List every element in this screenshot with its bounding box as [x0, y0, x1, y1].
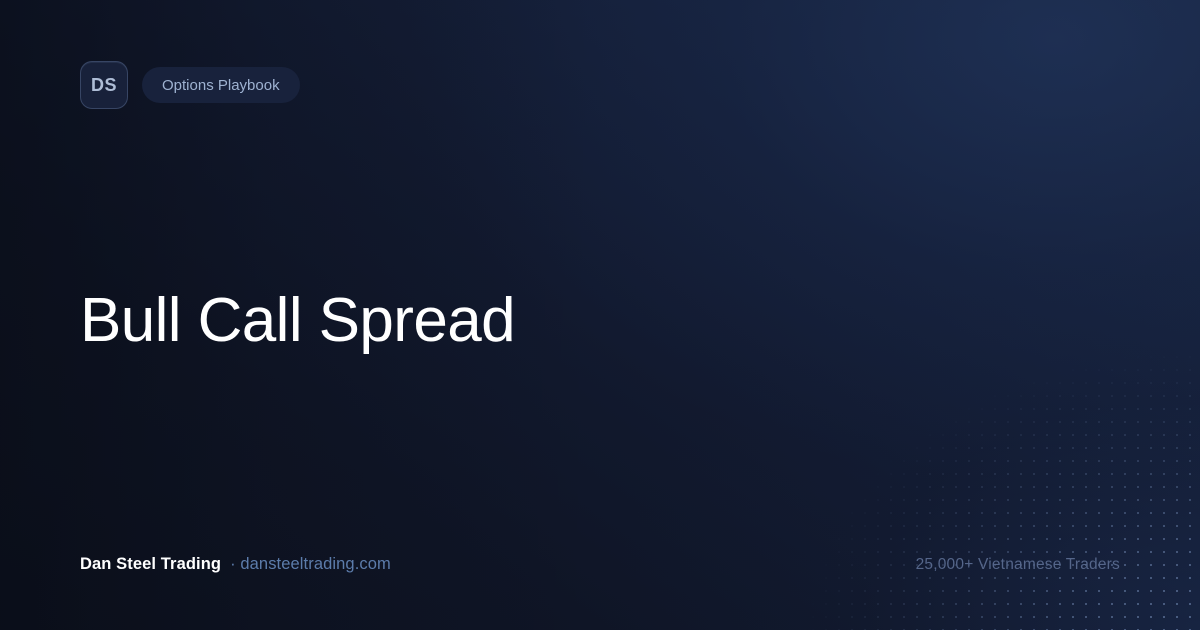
footer-brand-group: Dan Steel Trading · dansteeltrading.com	[80, 555, 391, 574]
card-content: DS Options Playbook Bull Call Spread Dan…	[0, 0, 1200, 630]
ds-monogram-icon: DS	[80, 61, 128, 109]
brand-website-group: · dansteeltrading.com	[230, 555, 391, 574]
og-share-card: DS Options Playbook Bull Call Spread Dan…	[0, 0, 1200, 630]
category-tag-label: Options Playbook	[162, 78, 280, 93]
logo-initials: DS	[91, 76, 117, 94]
category-tag-badge: Options Playbook	[142, 67, 300, 103]
brand-website-url: dansteeltrading.com	[240, 555, 391, 573]
card-footer: Dan Steel Trading · dansteeltrading.com …	[80, 555, 1120, 574]
headline-block: Bull Call Spread	[80, 286, 1040, 355]
header-badge-row: DS Options Playbook	[80, 61, 300, 109]
brand-name: Dan Steel Trading	[80, 555, 221, 574]
footer-separator: ·	[230, 555, 236, 573]
audience-note: 25,000+ Vietnamese Traders	[916, 556, 1120, 574]
page-title: Bull Call Spread	[80, 286, 1040, 355]
